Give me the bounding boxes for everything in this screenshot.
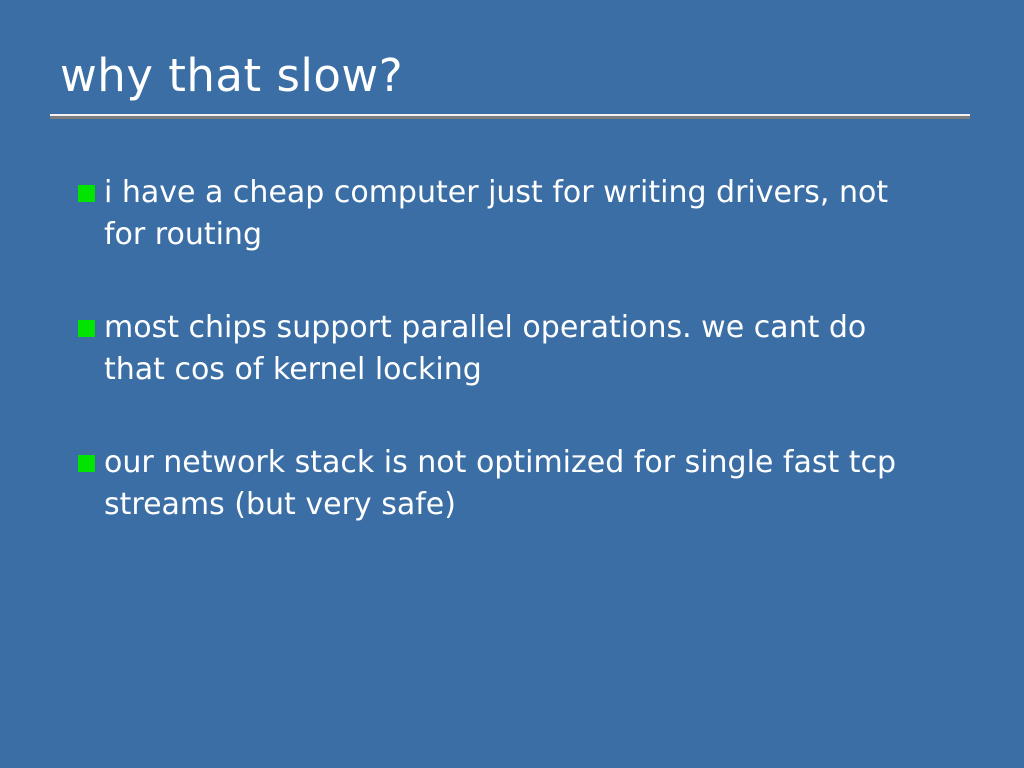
rule-shadow-line	[50, 116, 970, 119]
bullet-text: our network stack is not optimized for s…	[104, 442, 976, 526]
title-underline-rule	[50, 114, 970, 119]
bullet-text-line: most chips support parallel operations. …	[104, 307, 976, 349]
bullet-text-line: for routing	[104, 214, 976, 256]
bullet-text-line: our network stack is not optimized for s…	[104, 442, 976, 484]
green-square-bullet-icon	[78, 320, 95, 337]
bullet-text-line: streams (but very safe)	[104, 484, 976, 526]
bullet-list: i have a cheap computer just for writing…	[76, 172, 976, 526]
green-square-bullet-icon	[78, 185, 95, 202]
bullet-text-line: i have a cheap computer just for writing…	[104, 172, 976, 214]
page-title: why that slow?	[50, 48, 970, 104]
list-item: most chips support parallel operations. …	[76, 307, 976, 391]
presentation-slide: why that slow? i have a cheap computer j…	[0, 0, 1024, 768]
bullet-text-line: that cos of kernel locking	[104, 349, 976, 391]
green-square-bullet-icon	[78, 455, 95, 472]
bullet-text: i have a cheap computer just for writing…	[104, 172, 976, 256]
list-item: i have a cheap computer just for writing…	[76, 172, 976, 256]
bullet-text: most chips support parallel operations. …	[104, 307, 976, 391]
slide-title-block: why that slow?	[50, 48, 970, 104]
list-item: our network stack is not optimized for s…	[76, 442, 976, 526]
